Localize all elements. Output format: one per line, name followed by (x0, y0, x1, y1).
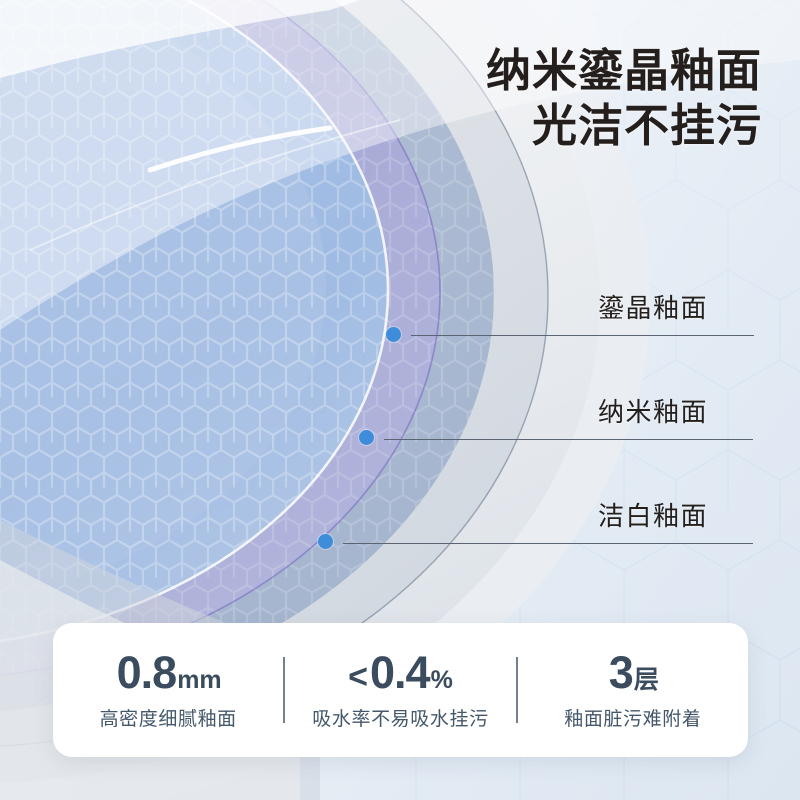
specs-divider-2 (516, 657, 518, 723)
stat-layers-description: 釉面脏污难附着 (564, 704, 701, 731)
specs-card: 0.8 mm 高密度细腻釉面 < 0.4 % 吸水率不易吸水挂污 3 层 釉面脏… (53, 623, 748, 757)
stat-thickness-number: 0.8 (117, 650, 177, 695)
stat-thickness-description: 高密度细腻釉面 (100, 704, 237, 731)
headline-line-1: 纳米鎏晶釉面 (486, 44, 762, 99)
stat-water-absorption-number: 0.4 (370, 650, 430, 695)
callout-dot-1 (386, 327, 401, 342)
callout-leader-line-2 (384, 439, 753, 440)
stat-water-absorption-value: < 0.4 % (348, 650, 453, 695)
stat-layers: 3 层 釉面脏污难附着 (518, 650, 748, 731)
product-image-canvas: 纳米鎏晶釉面 光洁不挂污 鎏晶釉面 纳米釉面 洁白釉面 0.8 mm 高密度细腻… (0, 0, 800, 800)
stat-water-absorption-prefix: < (348, 660, 368, 694)
stat-thickness-unit: mm (177, 668, 221, 693)
callout-dot-2 (359, 430, 374, 445)
stat-thickness: 0.8 mm 高密度细腻釉面 (53, 650, 283, 731)
specs-divider-1 (283, 657, 285, 723)
stat-layers-value: 3 层 (607, 650, 659, 695)
callout-label-nano-glaze: 纳米釉面 (598, 392, 708, 429)
callout-label-glaze-crystal: 鎏晶釉面 (598, 288, 708, 325)
callout-leader-line-3 (343, 543, 753, 544)
callout-dot-3 (318, 534, 333, 549)
callout-label-white-glaze: 洁白釉面 (598, 496, 708, 533)
stat-water-absorption-unit: % (431, 668, 453, 693)
stat-water-absorption-description: 吸水率不易吸水挂污 (312, 704, 488, 731)
stat-layers-unit: 层 (634, 668, 659, 693)
headline: 纳米鎏晶釉面 光洁不挂污 (486, 44, 762, 154)
stat-water-absorption: < 0.4 % 吸水率不易吸水挂污 (285, 650, 515, 731)
callout-leader-line-1 (411, 335, 754, 336)
headline-line-2: 光洁不挂污 (486, 99, 762, 154)
stat-thickness-value: 0.8 mm (115, 650, 222, 695)
stat-layers-number: 3 (609, 650, 633, 695)
